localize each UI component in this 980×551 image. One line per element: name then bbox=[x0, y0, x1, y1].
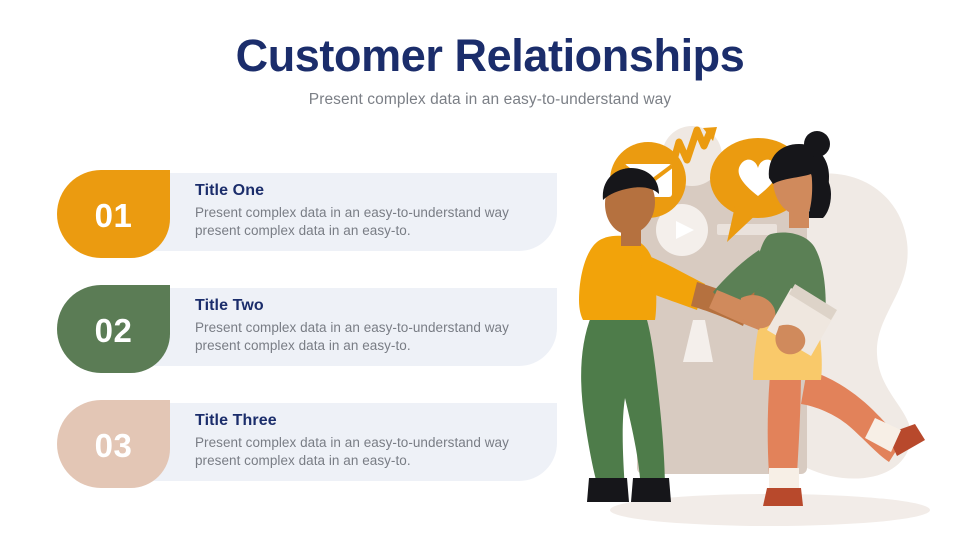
list-item-badge-3: 03 bbox=[57, 400, 170, 488]
list-item-title-1: Title One bbox=[195, 182, 555, 200]
list-item-badge-1: 01 bbox=[57, 170, 170, 258]
man-shoe-right bbox=[631, 478, 671, 502]
man-neck bbox=[621, 228, 641, 246]
list-item[interactable]: 01 Title One Present complex data in an … bbox=[57, 170, 557, 258]
man-shoe-left bbox=[587, 478, 629, 502]
slide-root: Customer Relationships Present complex d… bbox=[0, 0, 980, 551]
page-subtitle: Present complex data in an easy-to-under… bbox=[0, 91, 980, 109]
list-item-number-3: 03 bbox=[95, 429, 133, 462]
list-item-number-2: 02 bbox=[95, 314, 133, 347]
list-item-title-3: Title Three bbox=[195, 412, 555, 430]
list-item-text-3: Title Three Present complex data in an e… bbox=[195, 412, 555, 470]
woman-front-shoe bbox=[763, 488, 803, 506]
list-item-description-1: Present complex data in an easy-to-under… bbox=[195, 204, 555, 240]
handshake-partnership-illustration bbox=[545, 118, 975, 538]
list-item-badge-2: 02 bbox=[57, 285, 170, 373]
page-title: Customer Relationships bbox=[0, 32, 980, 79]
feature-list: 01 Title One Present complex data in an … bbox=[57, 170, 557, 515]
list-item-text-1: Title One Present complex data in an eas… bbox=[195, 182, 555, 240]
woman-neck bbox=[789, 208, 809, 228]
text-line-placeholder bbox=[717, 224, 777, 235]
list-item-number-1: 01 bbox=[95, 199, 133, 232]
list-item-title-2: Title Two bbox=[195, 297, 555, 315]
header: Customer Relationships Present complex d… bbox=[0, 32, 980, 109]
list-item-description-3: Present complex data in an easy-to-under… bbox=[195, 434, 555, 470]
list-item[interactable]: 03 Title Three Present complex data in a… bbox=[57, 400, 557, 488]
list-item[interactable]: 02 Title Two Present complex data in an … bbox=[57, 285, 557, 373]
list-item-text-2: Title Two Present complex data in an eas… bbox=[195, 297, 555, 355]
woman-hair-bun bbox=[804, 131, 830, 157]
list-item-description-2: Present complex data in an easy-to-under… bbox=[195, 319, 555, 355]
woman-front-leg bbox=[768, 364, 801, 474]
